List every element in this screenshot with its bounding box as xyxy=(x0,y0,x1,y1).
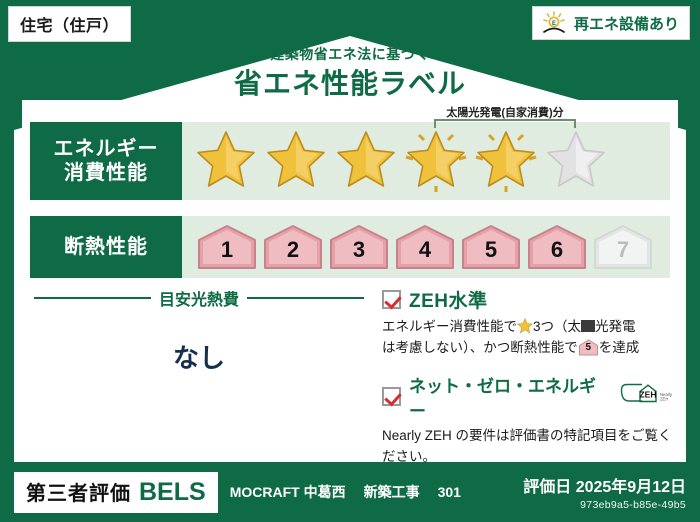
svg-text:ZEH: ZEH xyxy=(639,390,656,400)
unit-number: 301 xyxy=(438,484,461,500)
evaluation-date-label: 評価日 xyxy=(523,479,571,496)
renewable-badge-label: 再エネ設備あり xyxy=(574,13,679,34)
insulation-level-number: 5 xyxy=(485,237,497,270)
bels-jp-label: 第三者評価 xyxy=(26,477,131,506)
inline-star-icon xyxy=(517,318,533,334)
insulation-level-number: 4 xyxy=(419,237,431,270)
utility-cost-value: なし xyxy=(34,338,364,375)
utility-cost-heading: 目安光熱費 xyxy=(34,286,364,310)
insulation-level-2-filled: 2 xyxy=(262,224,324,270)
insulation-level-number: 3 xyxy=(353,237,365,270)
cost-rule-left xyxy=(34,297,151,299)
zeh-desc-part-c: は考慮しない）、かつ断熱性能で xyxy=(382,340,578,355)
owner-name: MOCRAFT 中葛西 xyxy=(230,482,346,502)
label-title: 省エネ性能ラベル xyxy=(0,62,700,102)
net-zero-energy-criterion: ネット・ゼロ・エネルギー ZEH Nearly ZEH xyxy=(382,372,672,422)
solar-generation-note: 太陽光発電(自家消費)分 xyxy=(430,104,580,120)
insulation-level-6-filled: 6 xyxy=(526,224,588,270)
criteria-block: ZEH水準 エネルギー消費性能で3つ（太光発電は考慮しない）、かつ断熱性能で5を… xyxy=(382,286,672,468)
cost-rule-right xyxy=(247,297,364,299)
solar-bracket xyxy=(434,119,576,128)
zeh-desc-star-count: 3つ（太 xyxy=(533,319,581,334)
evaluation-date-line: 評価日 2025年9月12日 xyxy=(523,473,686,497)
energy-performance-row: エネルギー 消費性能 xyxy=(30,122,670,200)
zeh-desc-part-a: エネルギー消費性能で xyxy=(382,319,517,334)
svg-text:ZEH: ZEH xyxy=(660,397,668,402)
zeh-standard-description: エネルギー消費性能で3つ（太光発電は考慮しない）、かつ断熱性能で5を達成 xyxy=(382,317,672,359)
insulation-levels-container: 1 2 3 4 5 6 7 xyxy=(182,216,670,278)
insulation-level-number: 2 xyxy=(287,237,299,270)
insulation-level-number: 6 xyxy=(551,237,563,270)
star-2-filled xyxy=(262,128,330,194)
zeh-standard-criterion: ZEH水準 xyxy=(382,286,672,313)
checkbox-checked-icon-2 xyxy=(382,387,401,406)
insulation-level-1-filled: 1 xyxy=(196,224,258,270)
bels-energy-label: 住宅（住戸） E 再エネ設備あり 建築物省エネ法に基づく 省エネ性能ラベル 太陽… xyxy=(0,0,700,522)
star-5-filled xyxy=(472,128,540,194)
bels-certification-chip: 第三者評価 BELS xyxy=(14,472,218,513)
utility-cost-block: 目安光熱費 なし xyxy=(34,286,364,375)
insulation-performance-label: 断熱性能 xyxy=(30,216,182,278)
insulation-level-number: 1 xyxy=(221,237,233,270)
energy-label-line1: エネルギー xyxy=(54,137,159,161)
insulation-level-number: 7 xyxy=(617,237,629,270)
property-info: MOCRAFT 中葛西 新築工事 301 xyxy=(230,482,461,502)
checkbox-checked-icon xyxy=(382,290,401,309)
net-zero-energy-label: ネット・ゼロ・エネルギー xyxy=(409,372,608,422)
zeh-desc-part-b: 光発電 xyxy=(595,319,636,334)
insulation-level-7-empty: 7 xyxy=(592,224,654,270)
zeh-desc-part-d: を達成 xyxy=(599,340,640,355)
energy-stars-container xyxy=(182,122,670,200)
work-type: 新築工事 xyxy=(364,482,420,502)
evaluation-date-block: 評価日 2025年9月12日 973eb9a5-b85e-49b5 xyxy=(523,473,686,511)
zeh-house-logo-icon: ZEH Nearly ZEH xyxy=(618,382,672,411)
document-id: 973eb9a5-b85e-49b5 xyxy=(523,499,686,511)
energy-performance-label: エネルギー 消費性能 xyxy=(30,122,182,200)
insulation-level-3-filled: 3 xyxy=(328,224,390,270)
label-footer: 第三者評価 BELS MOCRAFT 中葛西 新築工事 301 評価日 2025… xyxy=(0,462,700,522)
star-4-filled xyxy=(402,128,470,194)
label-subtitle: 建築物省エネ法に基づく xyxy=(0,44,700,64)
inline-level-number: 5 xyxy=(578,340,599,356)
insulation-level-5-filled: 5 xyxy=(460,224,522,270)
building-type-tag: 住宅（住戸） xyxy=(8,6,131,42)
sun-icon: E xyxy=(541,11,567,35)
insulation-level-4-filled: 4 xyxy=(394,224,456,270)
inline-insulation-level-icon: 5 xyxy=(578,339,599,356)
star-1-filled xyxy=(192,128,260,194)
star-3-filled xyxy=(332,128,400,194)
redacted-block xyxy=(581,320,595,332)
bels-en-label: BELS xyxy=(139,478,206,507)
svg-text:E: E xyxy=(552,21,556,27)
zeh-standard-label: ZEH水準 xyxy=(409,286,488,313)
insulation-label-text: 断熱性能 xyxy=(64,235,148,259)
insulation-performance-row: 断熱性能 1 2 3 4 5 6 7 xyxy=(30,216,670,278)
evaluation-date-value: 2025年9月12日 xyxy=(576,479,686,496)
renewable-equipment-badge: E 再エネ設備あり xyxy=(532,6,690,40)
star-6-empty xyxy=(542,128,610,194)
energy-label-line2: 消費性能 xyxy=(64,161,148,185)
utility-cost-heading-text: 目安光熱費 xyxy=(159,286,239,310)
